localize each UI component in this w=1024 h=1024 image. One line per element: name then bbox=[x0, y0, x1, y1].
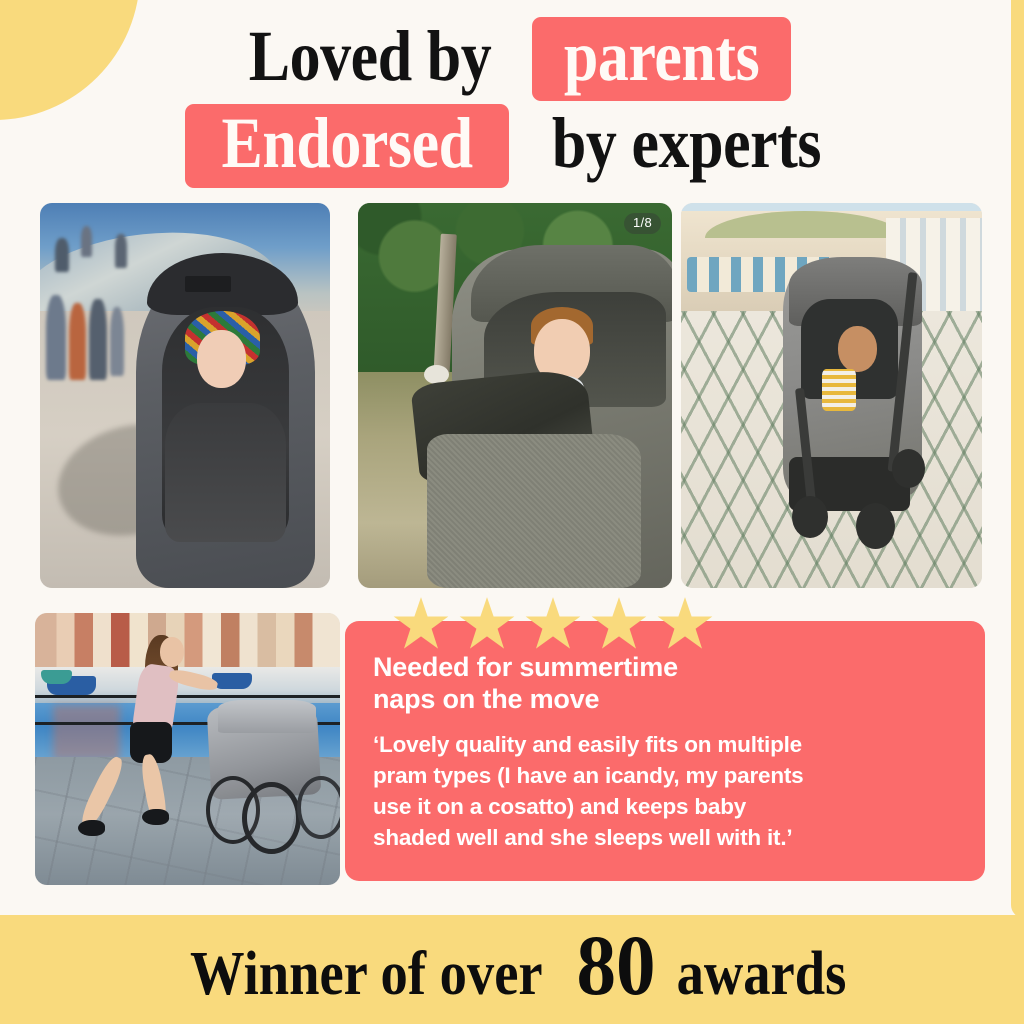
gallery-photo-1[interactable] bbox=[40, 203, 330, 588]
testimonial-heading-line-1: Needed for summertime bbox=[373, 652, 678, 682]
carousel-count-badge: 1/8 bbox=[624, 213, 661, 234]
testimonial-card: Needed for summertime naps on the move ‘… bbox=[345, 621, 985, 881]
headline: Loved by parents Endorsed by experts bbox=[0, 14, 1024, 188]
testimonial-quote-line-2: pram types (I have an icandy, my parents bbox=[373, 763, 804, 788]
gallery-photo-2[interactable]: 1/8 bbox=[358, 203, 672, 588]
star-icon bbox=[459, 597, 515, 651]
gallery-photo-3[interactable] bbox=[681, 203, 982, 588]
star-rating bbox=[393, 597, 713, 651]
awards-suffix: awards bbox=[676, 939, 846, 1009]
headline-line-2: Endorsed by experts bbox=[0, 101, 1024, 188]
testimonial-quote-line-4: shaded well and she sleeps well with it.… bbox=[373, 825, 792, 850]
gallery-photo-4[interactable] bbox=[35, 613, 340, 885]
headline-line1-text: Loved by bbox=[248, 14, 491, 98]
promo-canvas: Loved by parents Endorsed by experts bbox=[0, 0, 1024, 1024]
photo-2-artwork bbox=[358, 203, 672, 588]
star-icon bbox=[393, 597, 449, 651]
testimonial-heading: Needed for summertime naps on the move bbox=[373, 651, 959, 715]
star-icon bbox=[525, 597, 581, 651]
testimonial-heading-line-2: naps on the move bbox=[373, 684, 599, 714]
star-icon bbox=[591, 597, 647, 651]
testimonial-quote-line-1: ‘Lovely quality and easily fits on multi… bbox=[373, 732, 802, 757]
awards-banner-text: Winner of over 80 awards bbox=[166, 930, 858, 1009]
star-icon bbox=[657, 597, 713, 651]
awards-count: 80 bbox=[571, 930, 661, 1000]
yellow-right-strip bbox=[1011, 0, 1024, 918]
headline-highlight-endorsed: Endorsed bbox=[185, 104, 509, 188]
testimonial-quote: ‘Lovely quality and easily fits on multi… bbox=[373, 729, 959, 853]
photo-3-artwork bbox=[681, 203, 982, 588]
headline-line2-text: by experts bbox=[552, 101, 821, 185]
testimonial-quote-line-3: use it on a cosatto) and keeps baby bbox=[373, 794, 746, 819]
awards-banner: Winner of over 80 awards bbox=[0, 915, 1024, 1024]
awards-prefix: Winner of over bbox=[190, 939, 543, 1009]
photo-4-artwork bbox=[35, 613, 340, 885]
headline-highlight-parents: parents bbox=[532, 17, 791, 101]
headline-line-1: Loved by parents bbox=[0, 14, 1024, 101]
photo-1-artwork bbox=[40, 203, 330, 588]
